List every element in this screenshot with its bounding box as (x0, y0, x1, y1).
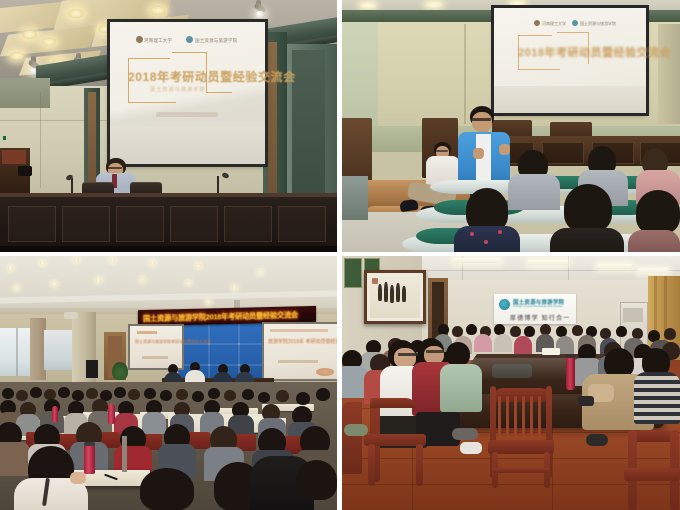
student-head (242, 389, 254, 400)
ceiling-light (150, 6, 166, 15)
student-torso (494, 334, 512, 352)
shoe (586, 434, 608, 446)
chair-slat (538, 396, 541, 444)
ceiling-downlight (196, 264, 201, 268)
foreground-student-head (296, 460, 337, 500)
led-panel (208, 343, 240, 366)
ceiling-strip-light (598, 264, 632, 269)
water-bottle (52, 406, 58, 422)
slide-footer-text (156, 112, 218, 117)
student-head (128, 389, 140, 400)
chair-slat (530, 396, 533, 444)
student-head (296, 392, 310, 405)
bottle-cap (566, 354, 575, 358)
dais-top-edge (0, 193, 337, 197)
dais-panel (62, 206, 110, 242)
wall-seam (40, 92, 41, 188)
exit-sign-icon (3, 136, 6, 140)
student-head (144, 388, 156, 399)
ceiling-light (42, 38, 56, 46)
audience-torso (508, 174, 560, 210)
led-panel (208, 322, 240, 345)
slide-logo-band (270, 329, 328, 332)
spotlight-head (256, 11, 264, 18)
college-emblem-icon (186, 36, 193, 43)
ceiling-light (68, 9, 84, 18)
student-head (208, 388, 220, 399)
ceiling-downlight (14, 286, 19, 290)
slide-footer (278, 360, 318, 363)
dais-panel (116, 206, 164, 242)
university-emblem-icon (136, 36, 143, 43)
foreground-student-face (394, 348, 416, 368)
ceiling-light (426, 1, 442, 8)
eyeglasses-icon (107, 167, 122, 169)
painting-figure (402, 286, 406, 302)
chair-leg (416, 444, 423, 486)
speaker-hand-right (499, 144, 510, 155)
slide-frame-rule (128, 102, 176, 104)
chair-leg (368, 444, 375, 486)
stage-panel-inset (542, 142, 584, 164)
student-head (176, 389, 188, 400)
ceiling-downlight (52, 282, 57, 286)
audience-torso (628, 230, 680, 252)
slide-title: 2018年考研动员暨经验交流会 (518, 44, 671, 60)
dais-panel (170, 206, 218, 242)
student-head (446, 342, 470, 366)
pattern-dot (498, 230, 502, 234)
window (44, 330, 72, 370)
chair-top-rail (370, 398, 416, 408)
slide-frame-rule (128, 58, 170, 60)
ceiling-downlight (96, 278, 101, 282)
door-frame (88, 92, 96, 190)
ceiling-downlight (232, 286, 237, 290)
wall-sign-subtitle: College of Land Resources and Tourism (513, 305, 563, 308)
student-head (160, 390, 172, 401)
slide-logo-band (137, 331, 157, 334)
smartphone (578, 396, 594, 406)
slide-subtitle: 国土资源与旅游学院 (150, 86, 206, 93)
chair-slat (522, 396, 525, 444)
side-wall-right (658, 24, 680, 124)
slide-graphic (316, 368, 334, 376)
ceiling-downlight (150, 261, 155, 265)
eyeglasses-icon (435, 150, 448, 152)
water-bottle (84, 444, 95, 474)
event-banner-text: 国土资源与旅游学院2018年考研动员暨经验交流会 (143, 310, 298, 324)
student-head (16, 390, 28, 401)
audience-head (564, 184, 612, 232)
projection-screen-left: 国土资源与旅游学院考研动员暨经验交流会 (130, 326, 182, 368)
slide-frame-rule (172, 52, 207, 54)
painting-figure (396, 283, 400, 302)
slide-footer (142, 356, 168, 359)
dais-panel (224, 206, 272, 242)
wall-plaque (344, 258, 362, 288)
ceiling-projector (64, 312, 78, 319)
slide-title: 2018年考研动员暨经验交流会 (128, 68, 296, 85)
slide-logo-right: 国土资源与旅游学院 (580, 21, 616, 27)
slide-frame-rule (518, 69, 560, 71)
photo-top-left-auditorium-stage: 河南理工大学 国土资源与旅游学院 2018年考研动员暨经验交流会 国土资源与旅游… (0, 0, 337, 252)
water-bottle (566, 356, 575, 390)
table-reflection-logo (492, 364, 532, 378)
shoe (452, 428, 478, 440)
painting-figure (378, 284, 382, 301)
wall-seam (464, 24, 466, 124)
student-head (114, 387, 126, 398)
shoe (460, 442, 482, 454)
slide-frame-rule (206, 92, 232, 94)
ceiling-strip-light (528, 260, 568, 265)
dais-panel (278, 206, 326, 242)
university-emblem-icon (534, 20, 540, 26)
foreground-student-hand (70, 472, 86, 484)
photo-bottom-left-large-hall: 国土资源与旅游学院2018年考研动员暨经验交流会 国土资源与旅游学院考研动员暨经… (0, 256, 337, 510)
dais-panel (8, 206, 56, 242)
student-head (258, 392, 270, 403)
ceiling-downlight (110, 258, 115, 262)
student-torso (474, 334, 492, 352)
eyeglasses-icon (426, 350, 444, 353)
student-head (510, 326, 521, 337)
audience-head (636, 190, 680, 234)
eyeglasses-icon (471, 118, 491, 121)
wall-panel-inner (292, 50, 325, 196)
ceiling-light (360, 2, 376, 9)
foreground-student-head (140, 468, 194, 510)
ceiling-strip-light (638, 268, 668, 273)
speaker-box (86, 360, 98, 378)
student-head (316, 388, 330, 401)
slide-logo-left: 河南理工大学 (542, 21, 566, 27)
ceiling-light (10, 52, 24, 60)
slide-logo-left: 河南理工大学 (144, 38, 172, 44)
student-head (2, 388, 14, 399)
student-head (30, 387, 42, 398)
pattern-dot (470, 232, 474, 236)
chair-stretcher (492, 468, 550, 473)
chair-slat (498, 396, 501, 444)
foreground-student-torso (634, 372, 680, 424)
projection-screen: 河南理工大学 国土资源与旅游学院 2018年考研动员暨经验交流会 (494, 8, 646, 113)
student-torso (440, 364, 482, 412)
wall-sign-calligraphy: 厚德博学 知行合一 (510, 313, 570, 322)
chair-slat (514, 396, 517, 444)
lectern (342, 118, 372, 182)
bottle-cap (84, 442, 95, 446)
slide-text: 旅游学院2018年 考研动员暨经验交流会 (268, 338, 337, 345)
dais-base (0, 246, 337, 252)
chair-slat (506, 396, 509, 444)
ceiling-downlight (140, 278, 145, 282)
ceiling-downlight (258, 270, 263, 274)
student-head (466, 324, 477, 335)
slide-frame-rule (557, 32, 588, 34)
ceiling-light (510, 0, 525, 6)
screen-lower-band (110, 126, 265, 164)
student-head (616, 326, 627, 337)
screen-lower-band (494, 86, 646, 113)
student-torso (0, 442, 30, 476)
ceiling-light (22, 30, 37, 39)
ceiling-downlight (186, 281, 191, 285)
audience-torso (454, 226, 520, 252)
paper-on-table (542, 348, 560, 355)
student-head (572, 325, 583, 336)
painting-figure (384, 282, 388, 302)
audience-torso (550, 228, 624, 252)
chair-post (342, 402, 362, 474)
photo-top-right-lecture-hall: 河南理工大学 国土资源与旅游学院 2018年考研动员暨经验交流会 (342, 0, 680, 252)
wall-sign: 国土资源与旅游学院 College of Land Resources and … (494, 294, 576, 324)
student-head (86, 388, 98, 399)
slide-text: 国土资源与旅游学院考研动员暨经验交流会 (135, 339, 211, 345)
student-torso (514, 336, 532, 354)
slide-logo-right: 国土资源与旅游学院 (195, 38, 237, 44)
college-logo-icon (499, 299, 510, 310)
lectern-top (2, 150, 26, 164)
window-mullion (16, 328, 18, 376)
student-head (192, 391, 204, 402)
painting-figure (390, 285, 394, 303)
student-head (276, 390, 289, 402)
air-conditioner-vent (623, 308, 643, 322)
potted-plant (112, 362, 128, 380)
student-head (58, 387, 70, 398)
student-head (524, 326, 535, 337)
shoe (344, 424, 368, 436)
student-head (224, 390, 236, 401)
painting-seal (372, 278, 378, 284)
ceiling-strip-light (454, 258, 500, 263)
pattern-dot (484, 240, 488, 244)
speaker-hand-left (473, 148, 484, 159)
photo-bottom-right-seminar-room: 国土资源与旅游学院 College of Land Resources and … (342, 256, 680, 510)
ceiling-downlight (206, 300, 211, 304)
projection-screen-right: 旅游学院2018年 考研动员暨经验交流会 (264, 324, 337, 379)
eyeglasses-icon (398, 353, 418, 356)
ceiling-downlight (40, 261, 45, 265)
chair-seat (624, 468, 680, 481)
side-wall-upper (0, 78, 50, 108)
slide-frame-rule (518, 35, 552, 37)
side-cabinet (342, 176, 368, 220)
desk-leg (122, 436, 127, 472)
student-head (72, 390, 84, 401)
door-frame (268, 42, 277, 198)
student-torso (142, 412, 166, 434)
ceiling-downlight (8, 266, 13, 270)
lectern-monitor (18, 166, 32, 176)
college-emblem-icon (572, 20, 578, 26)
projection-screen: 河南理工大学 国土资源与旅游学院 2018年考研动员暨经验交流会 国土资源与旅游… (110, 22, 265, 164)
ceiling-downlight (74, 258, 79, 262)
student-head (664, 328, 676, 340)
water-bottle (108, 404, 115, 424)
photo-collage: 河南理工大学 国土资源与旅游学院 2018年考研动员暨经验交流会 国土资源与旅游… (0, 0, 680, 510)
